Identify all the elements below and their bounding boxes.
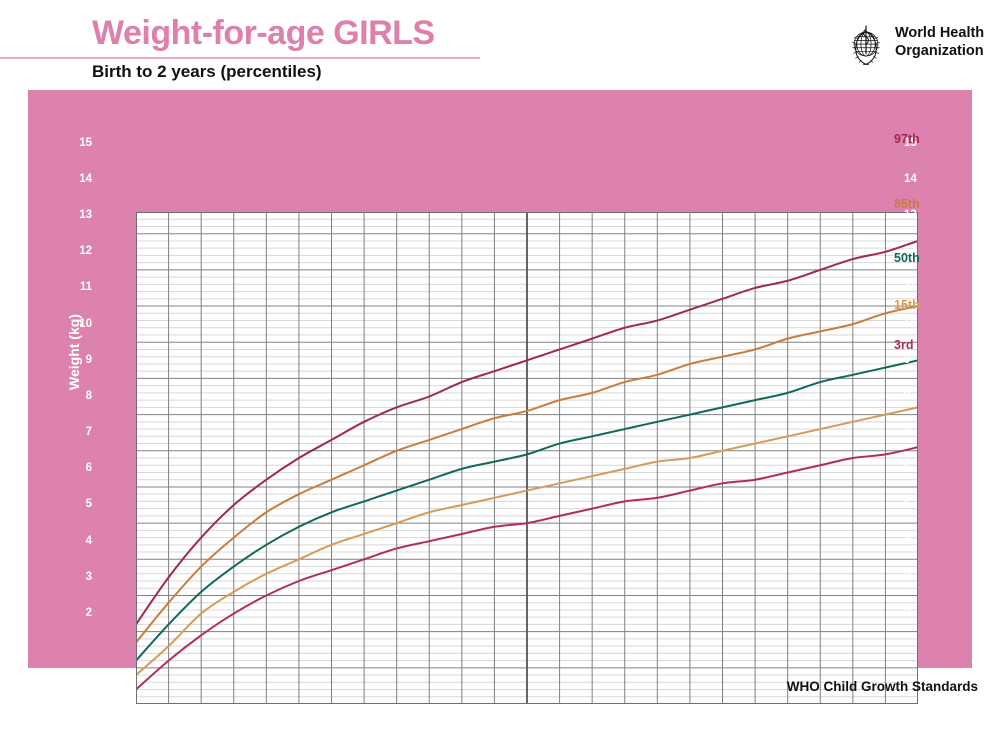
page-subtitle: Birth to 2 years (percentiles) [92, 62, 322, 82]
percentile-label-3rd: 3rd [894, 338, 913, 352]
y-tick-right-5: 5 [904, 498, 930, 510]
x-tick-month-9: 9 [388, 708, 414, 720]
y-tick-3: 3 [66, 571, 92, 583]
y-tick-right-3: 3 [904, 571, 930, 583]
x-tick-month-13: 1 [519, 708, 545, 720]
x-tick-month-14: 2 [551, 708, 577, 720]
x-tick-month-11: 11 [453, 708, 479, 720]
birth-label: Birth [78, 722, 138, 737]
y-tick-10: 10 [66, 318, 92, 330]
y-tick-12: 12 [66, 245, 92, 257]
y-tick-8: 8 [66, 390, 92, 402]
y-tick-4: 4 [66, 535, 92, 547]
plot-area [136, 212, 918, 704]
y-tick-13: 13 [66, 209, 92, 221]
footer-text: WHO Child Growth Standards [0, 679, 1000, 694]
x-tick-month-7: 7 [323, 708, 349, 720]
y-tick-2: 2 [66, 607, 92, 619]
percentile-label-15th: 15th [894, 298, 920, 312]
x-tick-month-2: 2 [160, 708, 186, 720]
x-tick-month-23: 11 [844, 708, 870, 720]
y-tick-right-6: 6 [904, 462, 930, 474]
who-org-line1: World Health [895, 24, 984, 42]
percentile-label-97th: 97th [894, 132, 920, 146]
y-tick-6: 6 [66, 462, 92, 474]
y-tick-right-7: 7 [904, 426, 930, 438]
x-tick-month-17: 5 [649, 708, 675, 720]
one-year-label: 1 year [464, 722, 534, 737]
x-tick-month-21: 9 [779, 708, 805, 720]
title-divider [0, 57, 480, 59]
x-tick-month-10: 10 [421, 708, 447, 720]
y-tick-5: 5 [66, 498, 92, 510]
x-tick-month-3: 3 [193, 708, 219, 720]
y-tick-15: 15 [66, 137, 92, 149]
who-logo: World Health Organization [843, 22, 993, 70]
x-tick-month-20: 8 [747, 708, 773, 720]
chart-panel: Weight (kg) Months 15141312111098765432 … [28, 90, 972, 668]
y-tick-right-4: 4 [904, 535, 930, 547]
x-tick-month-1: 1 [128, 708, 154, 720]
who-org-line2: Organization [895, 42, 984, 60]
months-label: Months [60, 708, 97, 720]
two-years-label: 2 years [850, 722, 920, 737]
y-tick-14: 14 [66, 173, 92, 185]
who-emblem-icon [843, 22, 889, 68]
y-tick-right-9: 9 [904, 354, 930, 366]
y-tick-right-14: 14 [904, 173, 930, 185]
growth-curves-chart [136, 212, 918, 704]
x-tick-month-15: 3 [584, 708, 610, 720]
y-tick-9: 9 [66, 354, 92, 366]
x-tick-month-8: 8 [356, 708, 382, 720]
x-tick-month-18: 6 [682, 708, 708, 720]
x-tick-month-6: 6 [291, 708, 317, 720]
x-tick-month-16: 4 [616, 708, 642, 720]
y-tick-right-8: 8 [904, 390, 930, 402]
y-tick-7: 7 [66, 426, 92, 438]
x-tick-month-4: 4 [225, 708, 251, 720]
y-tick-11: 11 [66, 281, 92, 293]
y-tick-right-2: 2 [904, 607, 930, 619]
y-tick-right-11: 11 [904, 281, 930, 293]
page-title: Weight-for-age GIRLS [92, 14, 435, 53]
x-tick-month-19: 7 [714, 708, 740, 720]
who-org-name: World Health Organization [895, 24, 984, 60]
x-tick-month-22: 10 [812, 708, 838, 720]
page-header: Weight-for-age GIRLS Birth to 2 years (p… [0, 0, 1000, 90]
percentile-label-85th: 85th [894, 197, 920, 211]
percentile-label-50th: 50th [894, 251, 920, 265]
y-tick-right-10: 10 [904, 318, 930, 330]
x-axis-title: Age (completed months and years) [28, 740, 1000, 756]
x-tick-month-5: 5 [258, 708, 284, 720]
